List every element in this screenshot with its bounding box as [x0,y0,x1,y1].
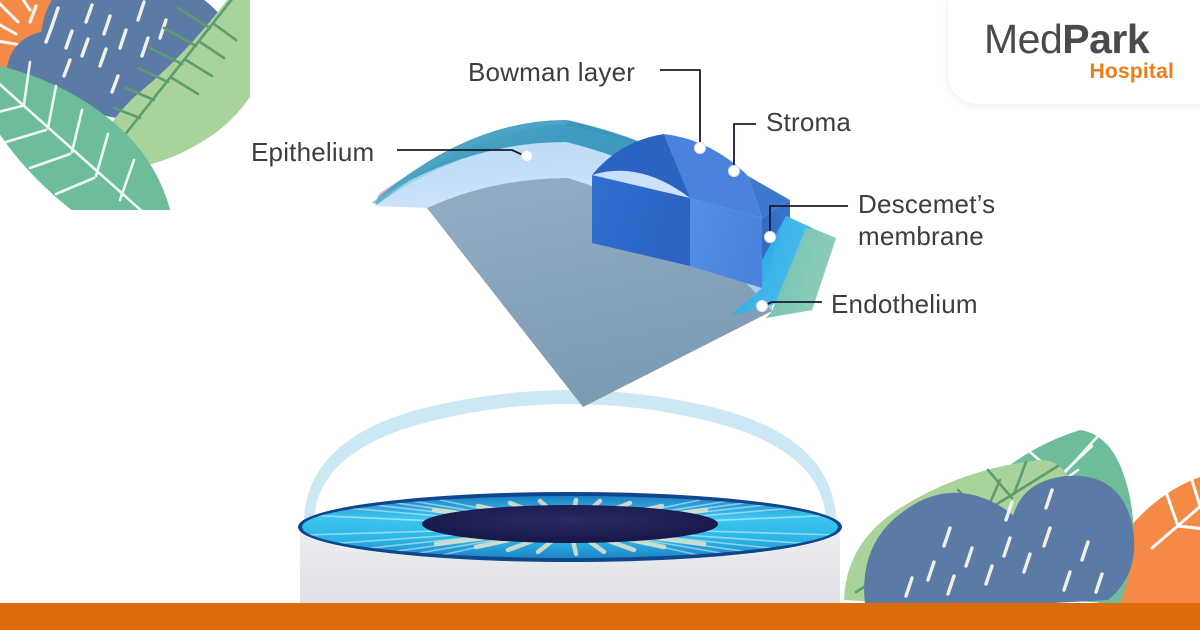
illustration-canvas: Epithelium Bowman layer Stroma Descemet’… [0,0,1200,630]
dot-descemet [764,231,775,242]
medpark-logo[interactable]: MedPark Hospital [948,0,1200,104]
cornea-wedge [372,120,836,407]
logo-word-med: Med [984,16,1062,62]
logo-wordmark: MedPark [984,17,1149,61]
dot-epithelium [521,150,532,161]
pupil [422,505,718,543]
logo-subtitle: Hospital [1090,60,1174,84]
logo-word-park: Park [1062,16,1149,62]
label-bowman-layer: Bowman layer [468,56,635,88]
label-epithelium: Epithelium [251,136,374,168]
dot-bowman [694,142,705,153]
bottom-accent-bar [0,603,1200,630]
decor-bottom-right [844,430,1200,620]
eyeball-illustration [298,390,842,604]
decor-top-left [0,0,281,242]
dot-stroma [728,165,739,176]
label-endothelium: Endothelium [831,288,978,320]
label-stroma: Stroma [766,106,851,138]
label-descemets-membrane: Descemet’s membrane [858,188,1048,252]
dot-endothelium [756,300,767,311]
